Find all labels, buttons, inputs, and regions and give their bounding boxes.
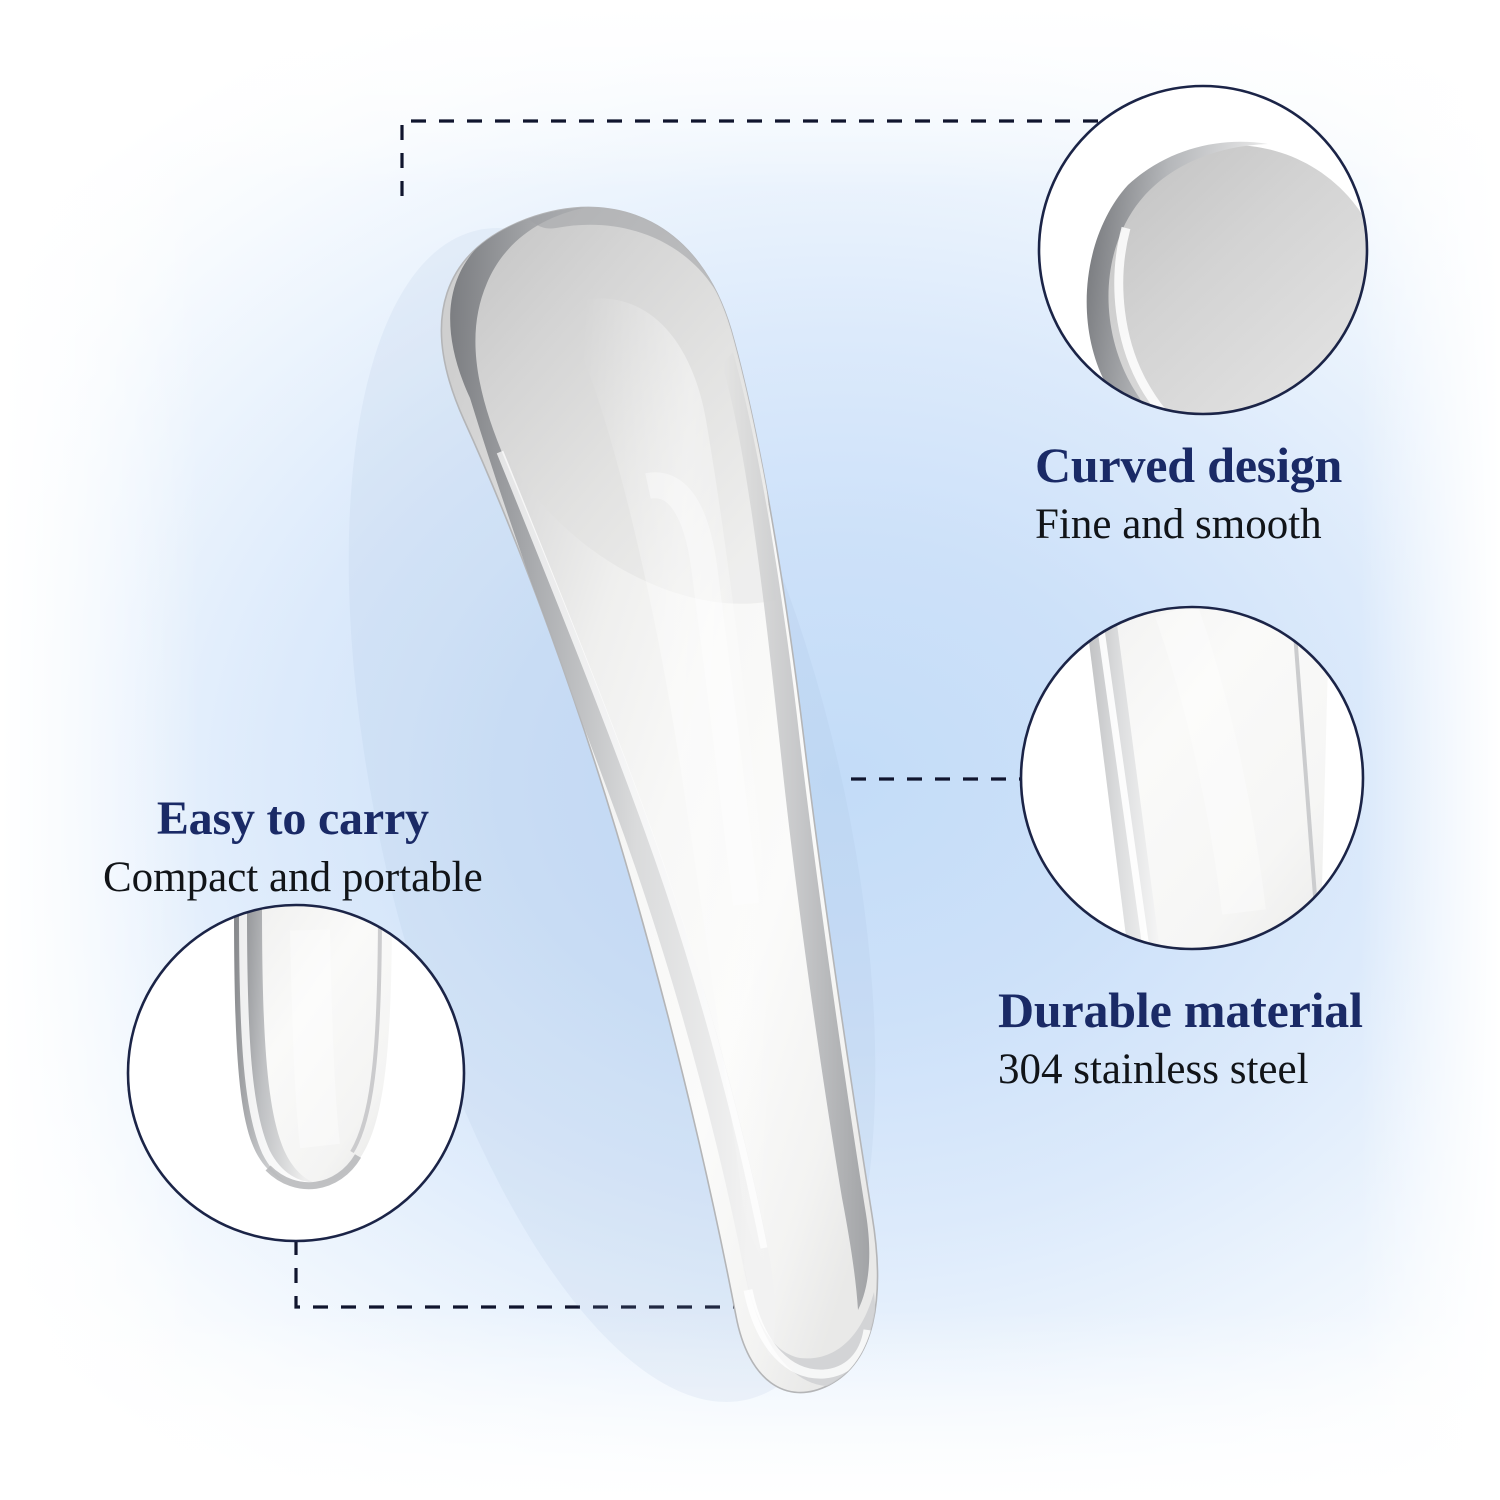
feature-title-durable-material: Durable material <box>998 985 1363 1036</box>
callout-circle-durable-material <box>1021 586 1363 968</box>
callout-circle-easy-to-carry <box>128 900 464 1241</box>
feature-subtitle-easy-to-carry: Compact and portable <box>103 855 483 900</box>
callout-circle-curved-design <box>1039 86 1390 465</box>
feature-caption-curved-design: Curved design Fine and smooth <box>1035 440 1342 547</box>
callout-circles-layer <box>0 0 1500 1500</box>
callout3-mirror-sheen <box>310 930 320 1146</box>
feature-subtitle-durable-material: 304 stainless steel <box>998 1047 1363 1092</box>
feature-caption-durable-material: Durable material 304 stainless steel <box>998 985 1363 1092</box>
feature-title-curved-design: Curved design <box>1035 440 1342 491</box>
feature-title-easy-to-carry: Easy to carry <box>103 795 483 844</box>
product-infographic: Curved design Fine and smooth Durable ma… <box>0 0 1500 1500</box>
feature-caption-easy-to-carry: Easy to carry Compact and portable <box>103 795 483 900</box>
feature-subtitle-curved-design: Fine and smooth <box>1035 502 1342 547</box>
